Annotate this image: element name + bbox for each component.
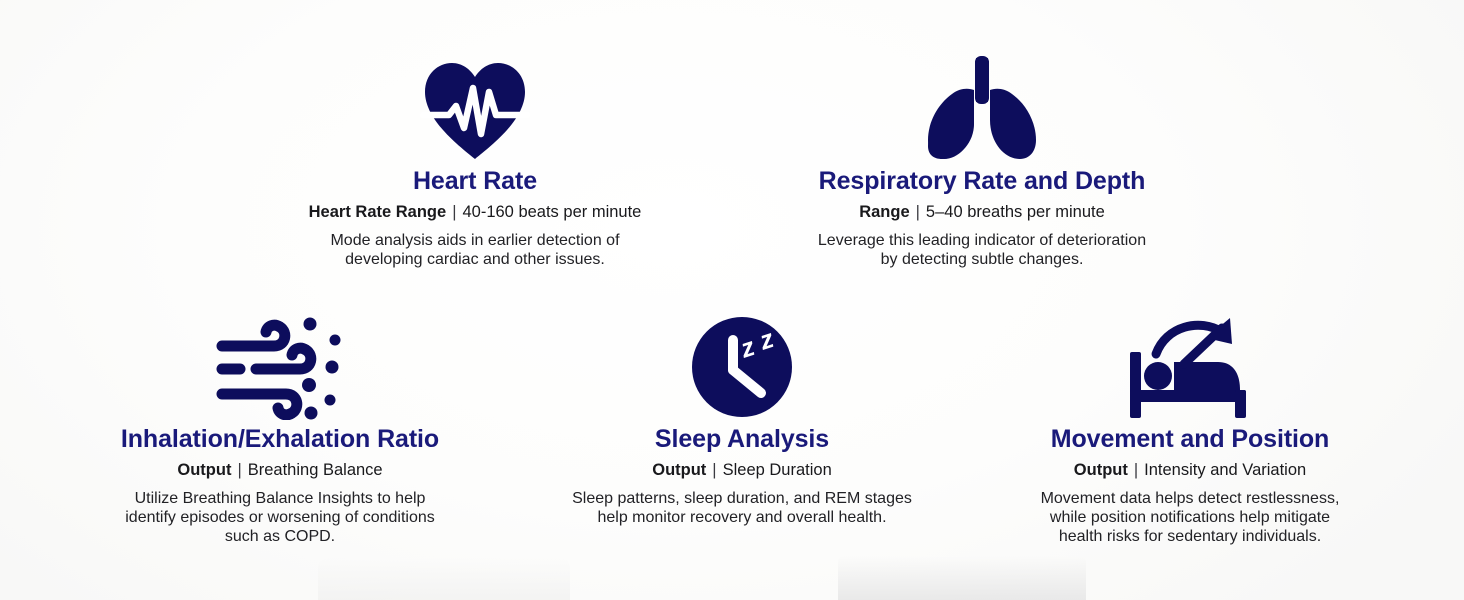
meta-value: 5–40 breaths per minute [926, 203, 1105, 221]
card-meta: Output|Breathing Balance [82, 461, 478, 481]
meta-separator: | [910, 203, 926, 223]
card-meta: Output|Intensity and Variation [990, 461, 1390, 481]
meta-label: Output [177, 461, 231, 479]
feature-card-heart-rate: Heart Rate Heart Rate Range|40-160 beats… [275, 52, 675, 270]
feature-card-movement-and-position: Movement and Position Output|Intensity a… [990, 310, 1390, 547]
meta-separator: | [706, 461, 722, 481]
feature-card-sleep-analysis: z z Sleep Analysis Output|Sleep Duration… [542, 310, 942, 528]
lungs-icon [782, 52, 1182, 162]
infographic-canvas: Heart Rate Heart Rate Range|40-160 beats… [0, 0, 1464, 600]
meta-label: Output [1074, 461, 1128, 479]
description-line: developing cardiac and other issues. [275, 251, 675, 270]
card-title: Sleep Analysis [542, 426, 942, 454]
heart-pulse-icon [275, 52, 675, 162]
feature-card-inhalation-exhalation-ratio: Inhalation/Exhalation Ratio Output|Breat… [82, 310, 478, 547]
description-line: by detecting subtle changes. [782, 251, 1182, 270]
description-line: Utilize Breathing Balance Insights to he… [82, 490, 478, 509]
meta-value: Intensity and Variation [1144, 461, 1306, 479]
description-line: Mode analysis aids in earlier detection … [275, 232, 675, 251]
card-title: Movement and Position [990, 426, 1390, 454]
person-in-bed-motion-icon [990, 310, 1390, 420]
card-description: Utilize Breathing Balance Insights to he… [82, 490, 478, 547]
feature-card-respiratory-rate-and-depth: Respiratory Rate and Depth Range|5–40 br… [782, 52, 1182, 270]
background-ghost-shape-center [838, 556, 1086, 600]
card-title: Inhalation/Exhalation Ratio [82, 426, 478, 454]
description-line: Leverage this leading indicator of deter… [782, 232, 1182, 251]
card-description: Sleep patterns, sleep duration, and REM … [542, 490, 942, 528]
card-description: Movement data helps detect restlessness,… [990, 490, 1390, 547]
meta-separator: | [446, 203, 462, 223]
description-line: Sleep patterns, sleep duration, and REM … [542, 490, 942, 509]
meta-value: Sleep Duration [723, 461, 832, 479]
meta-separator: | [1128, 461, 1144, 481]
background-ghost-shape-left [318, 558, 570, 600]
description-line: help monitor recovery and overall health… [542, 509, 942, 528]
card-description: Leverage this leading indicator of deter… [782, 232, 1182, 270]
meta-value: Breathing Balance [248, 461, 383, 479]
card-description: Mode analysis aids in earlier detection … [275, 232, 675, 270]
sleep-clock-icon: z z [542, 310, 942, 420]
meta-separator: | [231, 461, 247, 481]
description-line: health risks for sedentary individuals. [990, 528, 1390, 547]
meta-label: Heart Rate Range [309, 203, 447, 221]
description-line: identify episodes or worsening of condit… [82, 509, 478, 528]
card-meta: Heart Rate Range|40-160 beats per minute [275, 203, 675, 223]
card-title: Heart Rate [275, 168, 675, 196]
meta-label: Range [859, 203, 909, 221]
description-line: such as COPD. [82, 528, 478, 547]
description-line: while position notifications help mitiga… [990, 509, 1390, 528]
card-meta: Range|5–40 breaths per minute [782, 203, 1182, 223]
card-title: Respiratory Rate and Depth [782, 168, 1182, 196]
wind-airflow-icon [82, 310, 478, 420]
description-line: Movement data helps detect restlessness, [990, 490, 1390, 509]
meta-label: Output [652, 461, 706, 479]
meta-value: 40-160 beats per minute [462, 203, 641, 221]
card-meta: Output|Sleep Duration [542, 461, 942, 481]
